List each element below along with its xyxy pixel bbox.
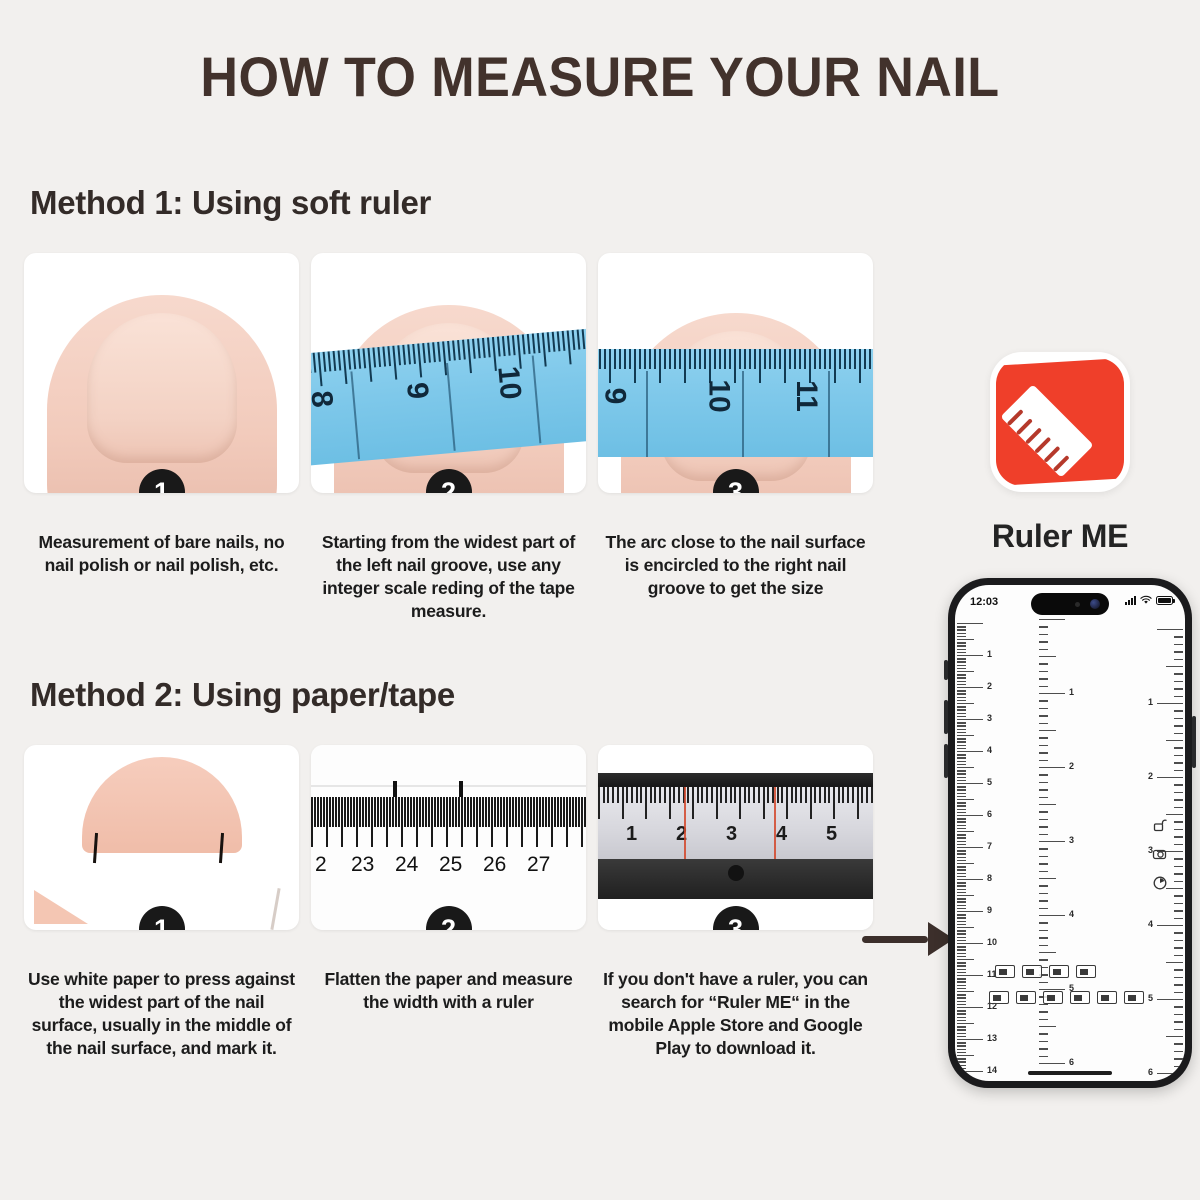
ruler-label: 26 [483, 853, 506, 877]
measure-handle[interactable] [1043, 991, 1063, 1004]
ruler-label: 1 [626, 823, 637, 846]
ruler-tick-label: 1 [1148, 697, 1153, 707]
ruler-tick-label: 1 [987, 649, 992, 659]
ruler-tick-label: 6 [1069, 1057, 1074, 1067]
method-2-heading: Method 2: Using paper/tape [30, 676, 455, 714]
ruler-tick-label: 6 [987, 809, 992, 819]
paper-corner [34, 890, 88, 924]
tape-separator [828, 371, 830, 457]
ruler-tick-label: 13 [987, 1033, 997, 1043]
ruler-label: 3 [726, 823, 737, 846]
ruler-tick-label: 2 [987, 681, 992, 691]
ruler-tick-label: 3 [1069, 835, 1074, 845]
ruler-label: 5 [826, 823, 837, 846]
ruler-tick-label: 7 [987, 841, 992, 851]
app-name-label: Ruler ME [920, 518, 1200, 555]
pencil-mark-left [393, 781, 397, 797]
sensor-dot-icon [1075, 602, 1080, 607]
infographic-page: HOW TO MEASURE YOUR NAIL Method 1: Using… [0, 0, 1200, 1200]
phone-volume-up[interactable] [944, 700, 948, 734]
step-caption: Use white paper to press against the wid… [24, 968, 299, 1060]
camera-icon[interactable] [1152, 846, 1168, 862]
method-1-steps: 1 Measurement of bare nails, no nail pol… [24, 253, 872, 623]
arrow-shaft [862, 936, 928, 943]
tape-separator [742, 371, 744, 457]
method-2-step-1: 1 Use white paper to press against the w… [24, 745, 299, 1060]
ruler-face: 12345 [598, 787, 873, 859]
unlock-icon[interactable] [1152, 817, 1168, 833]
method-1-heading: Method 1: Using soft ruler [30, 184, 431, 222]
ruler-label: 25 [439, 853, 462, 877]
battery-full-icon [1156, 596, 1173, 605]
measure-handle[interactable] [989, 991, 1009, 1004]
step-caption: If you don't have a ruler, you can searc… [598, 968, 873, 1060]
step-caption: Starting from the widest part of the lef… [311, 531, 586, 623]
page-title: HOW TO MEASURE YOUR NAIL [42, 44, 1158, 109]
plastic-ruler: 22324252627 [311, 745, 586, 930]
right-arrow-icon [862, 922, 954, 956]
ruler-top-bevel [598, 773, 873, 787]
front-camera-icon [1090, 599, 1100, 609]
pencil-mark-right [459, 781, 463, 797]
ruler-label: 2 [315, 853, 327, 877]
measure-handle[interactable] [1076, 965, 1096, 978]
ruler-tick-label: 4 [1069, 909, 1074, 919]
step-badge: 1 [139, 906, 185, 930]
step-caption: Flatten the paper and measure the width … [311, 968, 586, 1014]
paper-edge-line [311, 785, 586, 787]
ruler-app-icon[interactable] [990, 352, 1130, 492]
phone-screen[interactable]: 12:03 1234567891011121314 123456 123456 [955, 585, 1185, 1081]
ruler-tick-label: 4 [1148, 919, 1153, 929]
method-2-step-2: 22324252627 2 Flatten the paper and meas… [311, 745, 586, 1060]
settings-icon[interactable] [1152, 875, 1168, 891]
ruler-tick-label: 2 [1148, 771, 1153, 781]
ruler-tick-label: 1 [1069, 687, 1074, 697]
ruler-label: 27 [527, 853, 550, 877]
ruler-tick-label: 6 [1148, 1067, 1153, 1077]
ruler-scale-center[interactable]: 123456 [1039, 615, 1101, 1081]
metal-ruler: 12345 [598, 745, 873, 930]
phone-volume-down[interactable] [944, 744, 948, 778]
home-indicator [1028, 1071, 1112, 1075]
method-2-step-3: 12345 3 If you don't have a ruler, you c… [598, 745, 873, 1060]
cellular-signal-icon [1125, 596, 1136, 605]
measure-toolbar-row-1[interactable] [995, 965, 1096, 978]
ruler-ticks [311, 797, 586, 849]
blue-tape-measure: 9 10 11 [598, 349, 873, 457]
step-image-paper-on-nail: 1 [24, 745, 299, 930]
step-image-bare-nail: 1 [24, 253, 299, 493]
ruler-tick-label: 14 [987, 1065, 997, 1075]
ruler-tick-label: 9 [987, 905, 992, 915]
ruler-tick-label: 10 [987, 937, 997, 947]
measure-handle[interactable] [1070, 991, 1090, 1004]
ruler-screw [728, 865, 744, 881]
phone-power-button[interactable] [1192, 716, 1196, 768]
ruler-tick-label: 5 [1148, 993, 1153, 1003]
dynamic-island [1031, 593, 1109, 615]
finger-illustration [47, 295, 277, 493]
ruler-tick-label: 4 [987, 745, 992, 755]
phone-mute-switch[interactable] [944, 660, 948, 680]
measure-handle[interactable] [1022, 965, 1042, 978]
step-caption: The arc close to the nail surface is enc… [598, 531, 873, 600]
step-image-tape-wrapped: 9 10 11 3 [598, 253, 873, 493]
ruler-tick-label: 2 [1069, 761, 1074, 771]
measure-handle[interactable] [1097, 991, 1117, 1004]
status-bar-time: 12:03 [970, 596, 998, 608]
measure-handle[interactable] [995, 965, 1015, 978]
wifi-icon [1140, 595, 1152, 605]
measure-handle[interactable] [1049, 965, 1069, 978]
method-1-step-1: 1 Measurement of bare nails, no nail pol… [24, 253, 299, 623]
nail-plate [87, 313, 237, 463]
ruler-tick-label: 3 [987, 713, 992, 723]
ruler-scale-left[interactable]: 1234567891011121314 [957, 615, 1013, 1081]
paper-edge [270, 888, 280, 930]
app-side-icons [1152, 817, 1168, 891]
status-bar-indicators [1125, 595, 1173, 605]
ruler-tick-label: 8 [987, 873, 992, 883]
phone-mockup: 12:03 1234567891011121314 123456 123456 [948, 578, 1192, 1088]
method-2-steps: 1 Use white paper to press against the w… [24, 745, 872, 1060]
ruler-tick-label: 5 [987, 777, 992, 787]
measure-toolbar-row-2[interactable] [989, 991, 1144, 1004]
ruler-label: 4 [776, 823, 787, 846]
ruler-label: 24 [395, 853, 418, 877]
method-1-step-2: 8 9 10 2 Starting from the widest part o… [311, 253, 586, 623]
step-image-metal-ruler: 12345 3 [598, 745, 873, 930]
step-image-tape-on-finger: 8 9 10 2 [311, 253, 586, 493]
step-image-paper-with-ruler: 22324252627 2 [311, 745, 586, 930]
ruler-label: 23 [351, 853, 374, 877]
measure-handle[interactable] [1124, 991, 1144, 1004]
step-caption: Measurement of bare nails, no nail polis… [24, 531, 299, 577]
nail-through-paper [82, 757, 242, 853]
measure-handle[interactable] [1016, 991, 1036, 1004]
method-1-step-3: 9 10 11 3 The arc close to the nail surf… [598, 253, 873, 623]
tape-separator [646, 371, 648, 457]
